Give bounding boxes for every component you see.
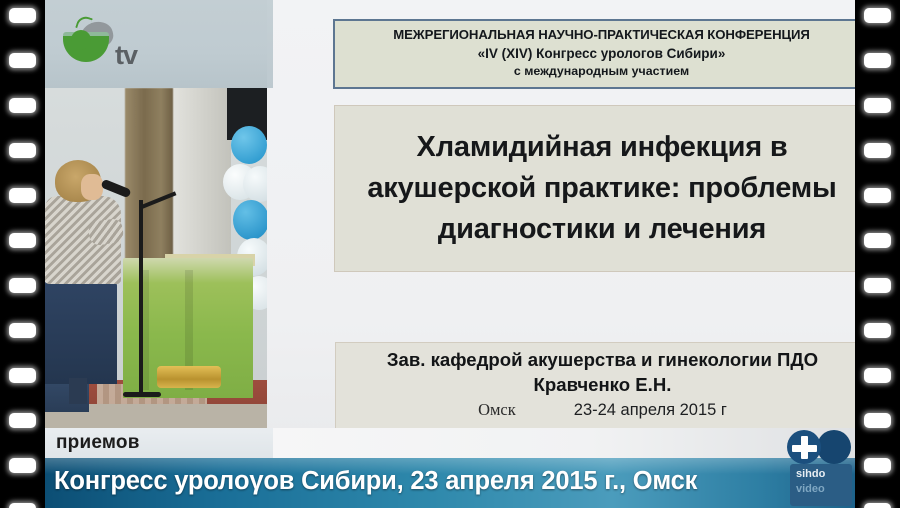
plus-cross-icon: [787, 430, 821, 464]
video-content: МЕЖРЕГИОНАЛЬНАЯ НАУЧНО-ПРАКТИЧЕСКАЯ КОНФ…: [45, 0, 855, 508]
conference-line-2: «IV (XIV) Конгресс урологов Сибири»: [478, 44, 726, 64]
filmstrip-sprocket-hole: [9, 188, 36, 203]
photo-gold-sash: [157, 366, 221, 388]
filmstrip-sprocket-hole: [9, 98, 36, 113]
filmstrip-sprocket-hole: [9, 368, 36, 383]
logo-dot-icon: [71, 30, 91, 50]
filmstrip-left-border: [0, 0, 45, 508]
slide-author-box: Зав. кафедрой акушерства и гинекологии П…: [335, 342, 855, 432]
filmstrip-sprocket-hole: [864, 188, 891, 203]
slide-title-line-3: диагностики и лечения: [438, 209, 766, 250]
author-name: Кравченко Е.Н.: [534, 373, 672, 397]
author-date: 23-24 апреля 2015 г: [574, 401, 727, 420]
author-city: Омск: [478, 400, 516, 420]
slide-title-line-2: акушерской практике: проблемы: [367, 168, 836, 209]
filmstrip-sprocket-hole: [864, 458, 891, 473]
filmstrip-right-border: [855, 0, 900, 508]
filmstrip-sprocket-hole: [864, 233, 891, 248]
conference-line-1: МЕЖРЕГИОНАЛЬНАЯ НАУЧНО-ПРАКТИЧЕСКАЯ КОНФ…: [393, 27, 810, 44]
slide-title-box: Хламидийная инфекция в акушерской практи…: [334, 105, 855, 272]
photo-balloon-blue-2: [233, 200, 267, 240]
filmstrip-sprocket-hole: [9, 413, 36, 428]
video-player-frame: МЕЖРЕГИОНАЛЬНАЯ НАУЧНО-ПРАКТИЧЕСКАЯ КОНФ…: [0, 0, 900, 508]
site-watermark[interactable]: sihdo video: [781, 428, 855, 508]
photo-speaker-leg: [69, 378, 87, 404]
photo-mic-stand: [139, 200, 143, 396]
plus-cross-horizontal: [792, 445, 817, 452]
watermark-circle-icon: [817, 430, 851, 464]
photo-mic-stand-base: [123, 392, 161, 397]
filmstrip-sprocket-hole: [9, 53, 36, 68]
upper-caption-text: приемов: [56, 432, 140, 454]
filmstrip-sprocket-hole: [864, 503, 891, 508]
photo-speaker-skirt: [45, 280, 117, 384]
filmstrip-sprocket-hole: [9, 323, 36, 338]
filmstrip-sprocket-hole: [864, 98, 891, 113]
speaker-photo: [45, 88, 267, 428]
filmstrip-sprocket-hole: [9, 143, 36, 158]
filmstrip-sprocket-hole: [864, 143, 891, 158]
filmstrip-sprocket-hole: [864, 8, 891, 23]
filmstrip-sprocket-hole: [864, 53, 891, 68]
upper-caption-bar: приемов: [45, 428, 273, 458]
presentation-slide: МЕЖРЕГИОНАЛЬНАЯ НАУЧНО-ПРАКТИЧЕСКАЯ КОНФ…: [266, 0, 855, 455]
left-video-column: tv: [45, 0, 267, 455]
filmstrip-sprocket-hole: [9, 8, 36, 23]
filmstrip-sprocket-hole: [864, 278, 891, 293]
filmstrip-sprocket-hole: [864, 323, 891, 338]
lower-grey-band-right: [266, 428, 855, 458]
conference-header-box: МЕЖРЕГИОНАЛЬНАЯ НАУЧНО-ПРАКТИЧЕСКАЯ КОНФ…: [333, 19, 855, 89]
ticker-banner: Конгресс уролογов Сибири, 23 апреля 2015…: [45, 458, 855, 508]
filmstrip-sprocket-hole: [9, 233, 36, 248]
filmstrip-sprocket-hole: [9, 458, 36, 473]
conference-line-3: с международным участием: [514, 63, 689, 80]
watermark-line-1: sihdo: [796, 468, 825, 480]
filmstrip-sprocket-hole: [864, 368, 891, 383]
ticker-text: Конгресс уролογов Сибири, 23 апреля 2015…: [54, 467, 697, 496]
filmstrip-sprocket-hole: [864, 413, 891, 428]
logo-tv-text: tv: [115, 42, 137, 69]
author-position: Зав. кафедрой акушерства и гинекологии П…: [387, 348, 818, 373]
watermark-line-2: video: [796, 483, 825, 495]
filmstrip-sprocket-hole: [9, 278, 36, 293]
watermark-plate: sihdo video: [790, 464, 852, 506]
author-place-date: Омск 23-24 апреля 2015 г: [478, 400, 727, 420]
filmstrip-sprocket-hole: [9, 503, 36, 508]
channel-logo: tv: [57, 14, 165, 72]
slide-title-line-1: Хламидийная инфекция в: [417, 127, 788, 168]
photo-balloon-blue-1: [231, 126, 267, 164]
photo-speaker-face: [81, 174, 103, 200]
